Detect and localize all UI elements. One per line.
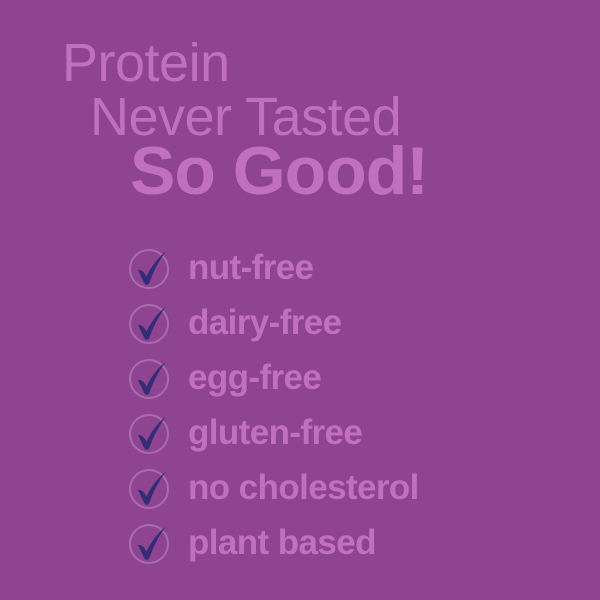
benefit-item: nut-free xyxy=(128,240,588,295)
benefit-item: egg-free xyxy=(128,350,588,405)
check-circle-icon xyxy=(128,299,174,347)
benefit-label: dairy-free xyxy=(188,305,342,340)
promo-poster: Protein Never Tasted So Good! nut-freeda… xyxy=(0,0,600,600)
benefit-item: dairy-free xyxy=(128,295,588,350)
benefit-item: plant based xyxy=(128,515,588,570)
check-circle-icon xyxy=(128,519,174,567)
benefit-label: egg-free xyxy=(188,360,321,395)
check-circle-icon xyxy=(128,409,174,457)
headline-line-3: So Good! xyxy=(130,137,428,205)
benefit-label: no cholesterol xyxy=(188,470,419,505)
benefit-label: nut-free xyxy=(188,250,313,285)
check-circle-icon xyxy=(128,464,174,512)
check-circle-icon xyxy=(128,354,174,402)
benefit-label: plant based xyxy=(188,525,376,560)
benefits-list: nut-freedairy-freeegg-freegluten-freeno … xyxy=(128,240,588,570)
benefit-item: gluten-free xyxy=(128,405,588,460)
headline-line-1: Protein xyxy=(62,36,230,90)
check-circle-icon xyxy=(128,244,174,292)
benefit-item: no cholesterol xyxy=(128,460,588,515)
benefit-label: gluten-free xyxy=(188,415,362,450)
